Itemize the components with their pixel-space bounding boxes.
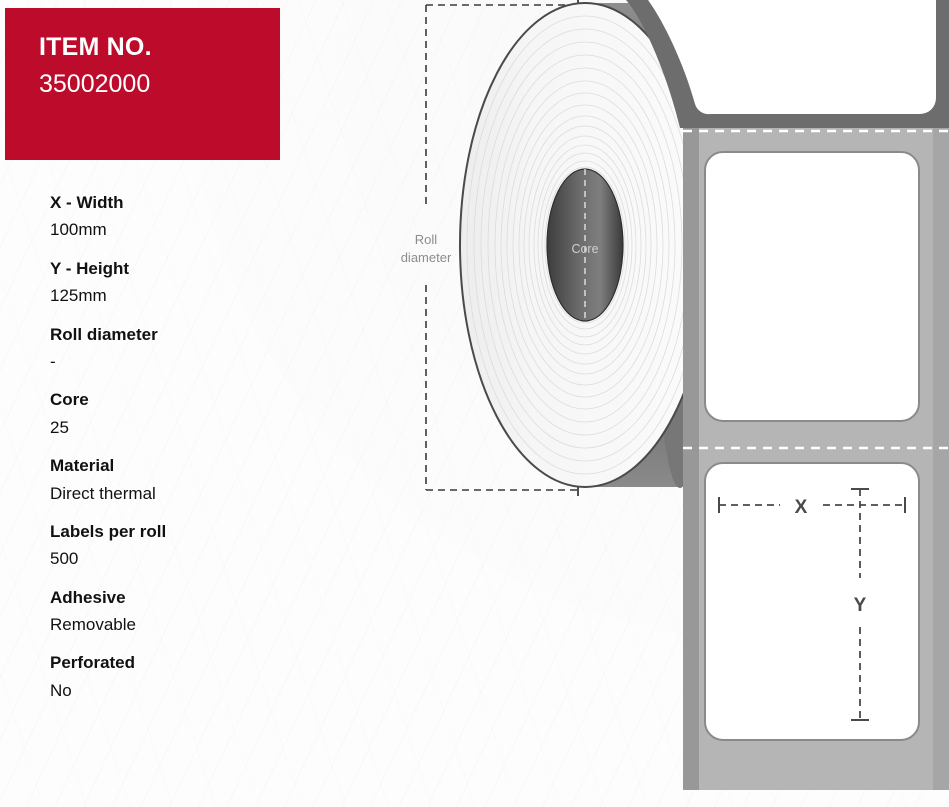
spec-value: Removable (50, 615, 350, 635)
spec-label: Core (50, 390, 350, 410)
spec-row-y-height: Y - Height 125mm (50, 259, 350, 307)
spec-row-x-width: X - Width 100mm (50, 193, 350, 241)
spec-label: Material (50, 456, 350, 476)
spec-row-perforated: Perforated No (50, 653, 350, 701)
core-label: Core (571, 242, 598, 256)
y-dimension-label: Y (854, 595, 867, 616)
spec-label: X - Width (50, 193, 350, 213)
spec-value: 25 (50, 418, 350, 438)
specification-list: X - Width 100mm Y - Height 125mm Roll di… (50, 193, 350, 719)
spec-label: Labels per roll (50, 522, 350, 542)
spec-value: Direct thermal (50, 484, 350, 504)
label-face-middle (705, 152, 919, 421)
liner-flat-highlight-right (933, 122, 949, 790)
spec-label: Y - Height (50, 259, 350, 279)
roll-diameter-label-line2: diameter (401, 250, 452, 265)
spec-row-material: Material Direct thermal (50, 456, 350, 504)
x-dimension-label: X (795, 497, 808, 518)
spec-value: No (50, 681, 350, 701)
label-roll-illustration: Roll diameter Core (380, 0, 949, 807)
roll-diameter-label-line1: Roll (415, 232, 438, 247)
spec-label: Perforated (50, 653, 350, 673)
item-number-banner: ITEM NO. 35002000 (5, 8, 280, 160)
spec-value: - (50, 352, 350, 372)
liner-flat-shadow-left (683, 122, 699, 790)
spec-value: 100mm (50, 220, 350, 240)
item-banner-title: ITEM NO. (39, 34, 280, 62)
spec-row-core: Core 25 (50, 390, 350, 438)
spec-row-adhesive: Adhesive Removable (50, 588, 350, 636)
spec-row-roll-diameter: Roll diameter - (50, 325, 350, 373)
spec-value: 500 (50, 549, 350, 569)
spec-label: Roll diameter (50, 325, 350, 345)
item-banner-number: 35002000 (39, 71, 280, 99)
spec-value: 125mm (50, 286, 350, 306)
spec-row-labels-per-roll: Labels per roll 500 (50, 522, 350, 570)
spec-label: Adhesive (50, 588, 350, 608)
